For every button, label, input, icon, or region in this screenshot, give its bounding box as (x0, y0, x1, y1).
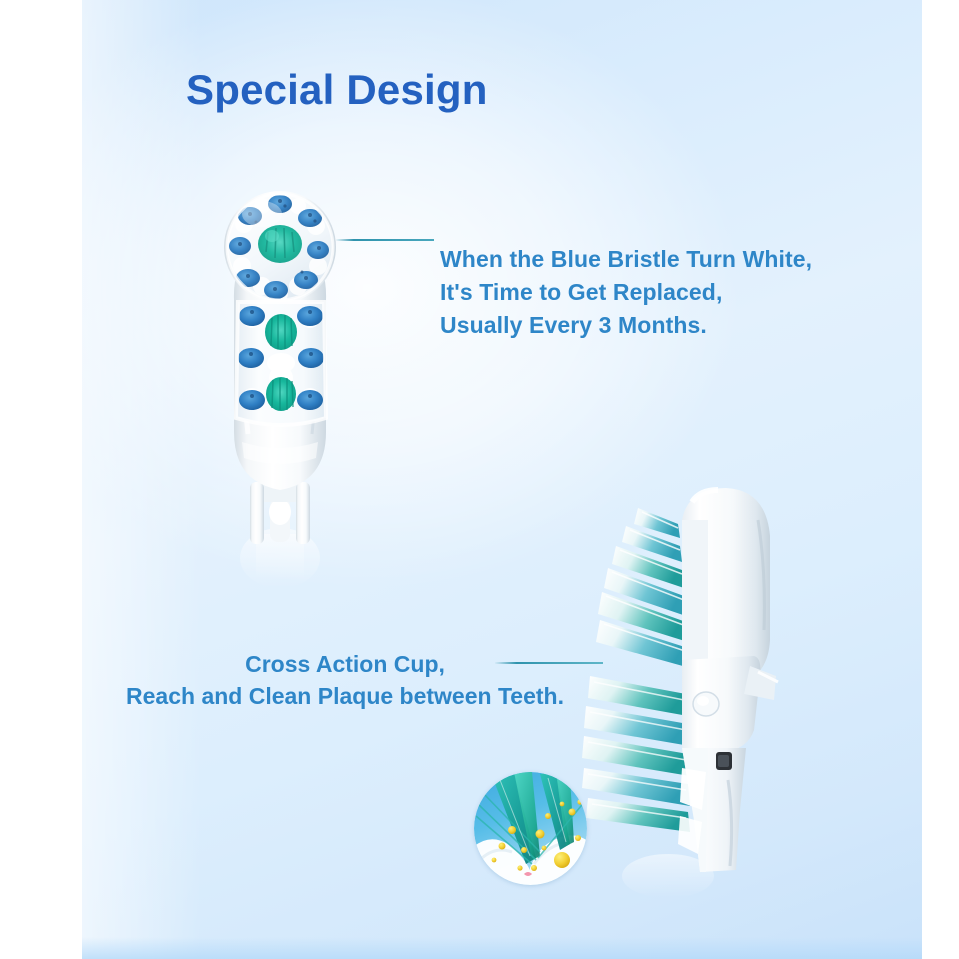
callout-cross-action-cup: Cross Action Cup, Reach and Clean Plaque… (120, 648, 570, 712)
callout-line-3: Usually Every 3 Months. (440, 309, 812, 342)
callout-line-1: When the Blue Bristle Turn White, (440, 243, 812, 276)
callout-line-2: It's Time to Get Replaced, (440, 276, 812, 309)
toothbrush-head-front (222, 182, 382, 612)
page-title: Special Design (186, 66, 488, 114)
callout-line-2: Reach and Clean Plaque between Teeth. (120, 680, 570, 712)
product-feature-image: Special Design (0, 0, 959, 959)
cross-action-detail-icon (474, 772, 587, 885)
background-left-fade (82, 0, 202, 959)
leader-line-bristle-indicator (336, 239, 434, 241)
callout-bristle-indicator: When the Blue Bristle Turn White, It's T… (440, 243, 812, 342)
callout-line-1: Cross Action Cup, (120, 648, 570, 680)
background-bottom-band (82, 937, 922, 959)
